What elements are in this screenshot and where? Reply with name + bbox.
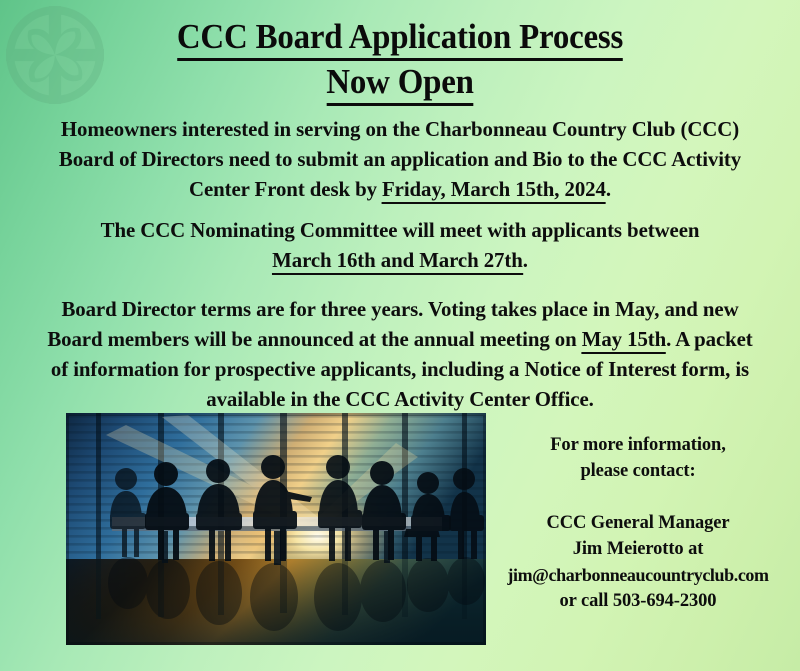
paragraph-terms-and-voting: Board Director terms are for three years… bbox=[12, 294, 788, 414]
title-line-1-text: CCC Board Application Process bbox=[177, 17, 623, 61]
contact-name: Jim Meierotto at bbox=[480, 536, 796, 562]
title-line-2-text: Now Open bbox=[326, 62, 473, 106]
contact-heading: For more information, please contact: bbox=[480, 432, 796, 484]
contact-details: CCC General Manager Jim Meierotto at jim… bbox=[480, 510, 796, 614]
contact-heading-line-2: please contact: bbox=[480, 458, 796, 484]
deadline-date-emphasis: Friday, March 15th, 2024 bbox=[382, 177, 606, 204]
annual-meeting-date-emphasis: May 15th bbox=[582, 327, 666, 354]
flyer-canvas: CCC Board Application Process Now Open H… bbox=[0, 0, 800, 671]
contact-heading-line-1: For more information, bbox=[480, 432, 796, 458]
contact-phone[interactable]: or call 503-694-2300 bbox=[480, 588, 796, 614]
paragraph-1-tail: . bbox=[606, 177, 611, 201]
contact-email[interactable]: jim@charbonneaucountryclub.com bbox=[480, 562, 796, 588]
title-line-1: CCC Board Application Process bbox=[24, 14, 776, 59]
contact-information: For more information, please contact: CC… bbox=[480, 432, 796, 614]
paragraph-2-lead: The CCC Nominating Committee will meet w… bbox=[101, 218, 700, 242]
paragraph-application-deadline: Homeowners interested in serving on the … bbox=[12, 114, 788, 204]
paragraph-2-tail: . bbox=[523, 248, 528, 272]
contact-role: CCC General Manager bbox=[480, 510, 796, 536]
boardroom-silhouette-meeting-photo bbox=[66, 413, 486, 645]
interview-window-emphasis: March 16th and March 27th bbox=[272, 248, 523, 275]
page-title: CCC Board Application Process Now Open bbox=[0, 14, 800, 104]
title-line-2: Now Open bbox=[24, 59, 776, 104]
paragraph-nominating-committee: The CCC Nominating Committee will meet w… bbox=[12, 215, 788, 275]
